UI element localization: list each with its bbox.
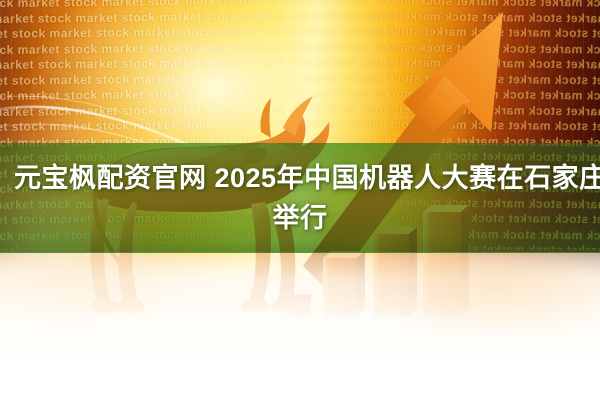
headline-line-2: 举行 [14,198,586,238]
hero-image: stock market stock market stock market s… [0,0,600,400]
page-title: 元宝枫配资官网 2025年中国机器人大赛在石家庄 举行 [0,158,600,238]
floor-tint [0,252,600,400]
headline-line-1: 元宝枫配资官网 2025年中国机器人大赛在石家庄 [14,158,586,198]
